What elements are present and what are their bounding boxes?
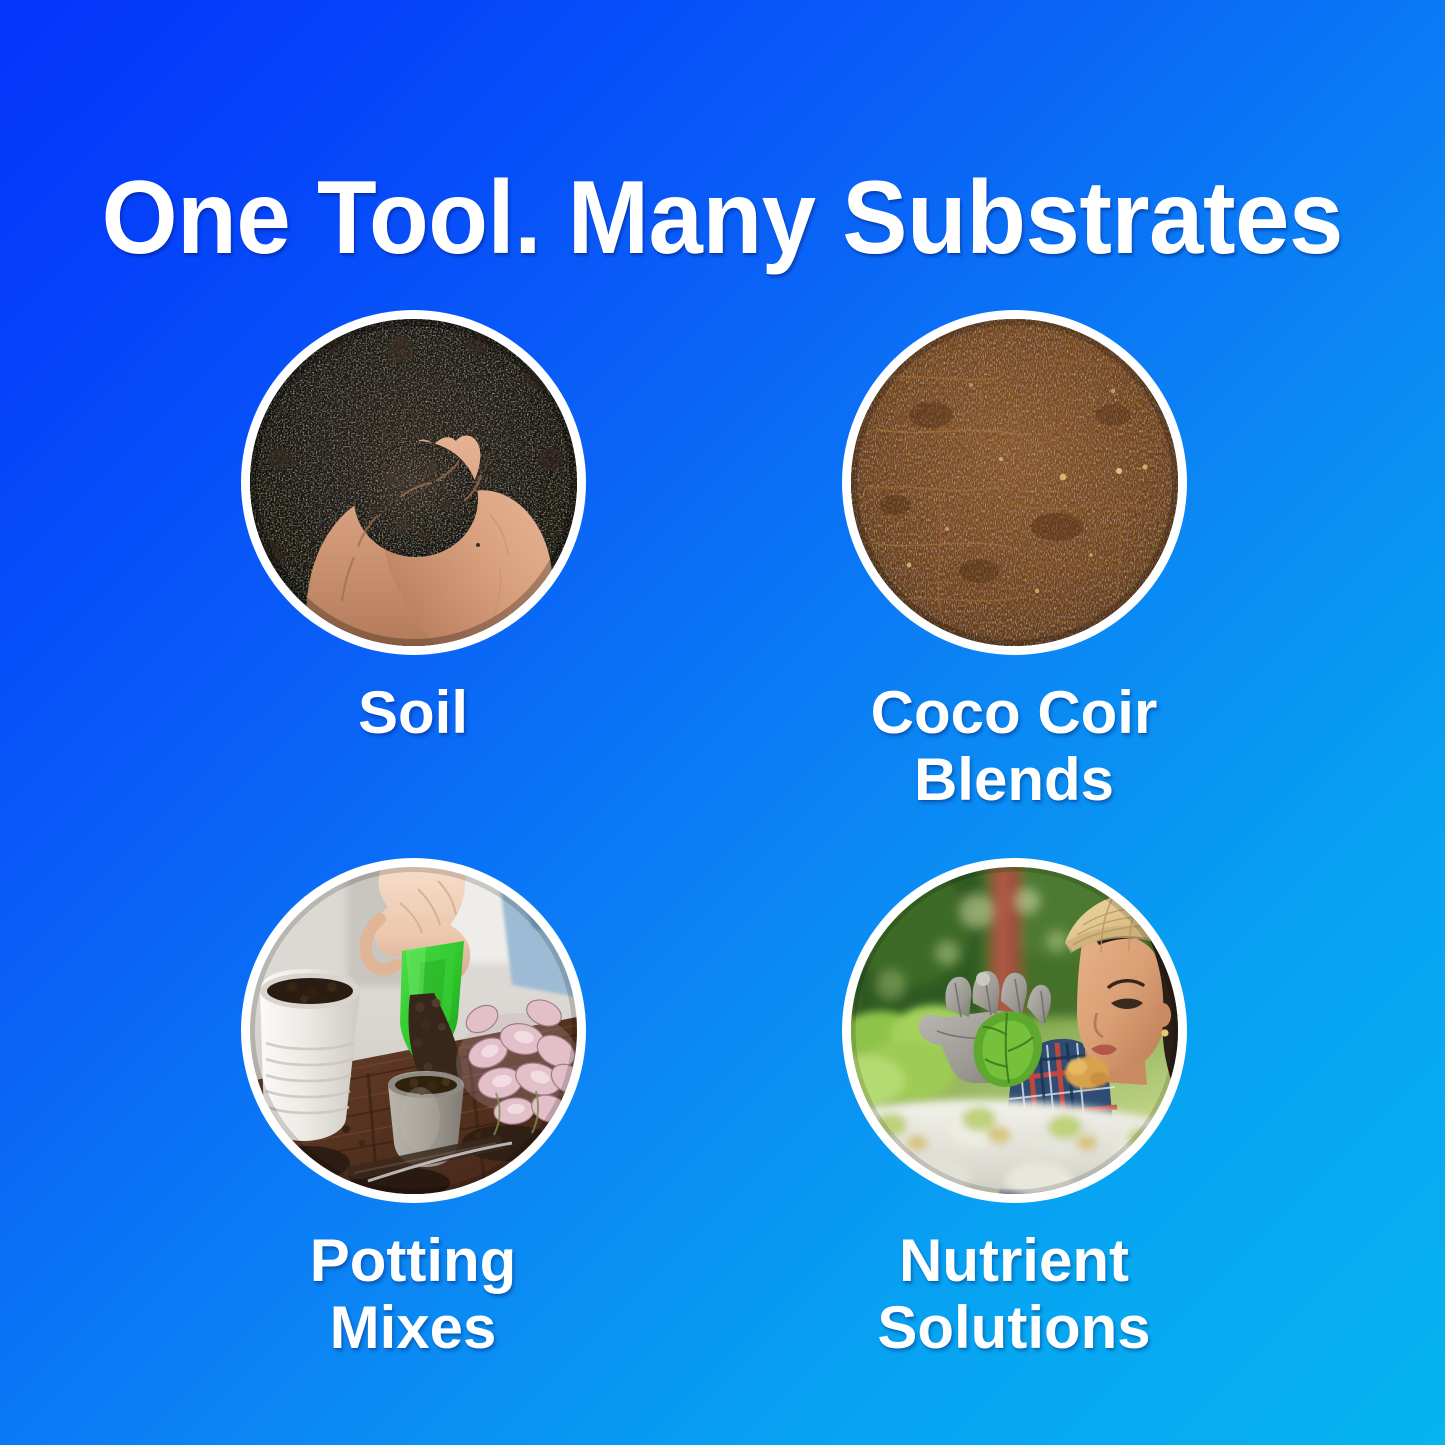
coco-coir-texture-photo xyxy=(851,319,1178,646)
potting-scene-photo xyxy=(250,867,577,1194)
substrate-label-coco-coir-blends: Coco Coir Blends xyxy=(714,679,1314,813)
label-line: Coco Coir xyxy=(714,679,1314,746)
label-line: Mixes xyxy=(113,1294,713,1361)
hydroponic-grower-photo xyxy=(851,867,1178,1194)
substrate-grid: Soil xyxy=(0,310,1445,1410)
hands-holding-dark-soil-photo xyxy=(250,319,577,646)
poster-canvas: One Tool. Many Substrates xyxy=(0,0,1445,1445)
substrate-item-soil[interactable]: Soil xyxy=(113,310,713,746)
substrate-label-soil: Soil xyxy=(113,679,713,746)
page-title: One Tool. Many Substrates xyxy=(102,166,1343,270)
substrate-item-nutrient-solutions[interactable]: Nutrient Solutions xyxy=(714,858,1314,1361)
substrate-item-potting-mixes[interactable]: Potting Mixes xyxy=(113,858,713,1361)
substrate-label-potting-mixes: Potting Mixes xyxy=(113,1227,713,1361)
headline-container: One Tool. Many Substrates xyxy=(0,96,1445,339)
photo-ring-nutrient-solutions xyxy=(842,858,1187,1203)
substrate-item-coco-coir-blends[interactable]: Coco Coir Blends xyxy=(714,310,1314,813)
label-line: Nutrient xyxy=(714,1227,1314,1294)
substrate-label-nutrient-solutions: Nutrient Solutions xyxy=(714,1227,1314,1361)
photo-ring-coco-coir xyxy=(842,310,1187,655)
photo-ring-potting-mixes xyxy=(241,858,586,1203)
photo-ring-soil xyxy=(241,310,586,655)
label-line: Soil xyxy=(113,679,713,746)
label-line: Potting xyxy=(113,1227,713,1294)
label-line: Blends xyxy=(714,746,1314,813)
label-line: Solutions xyxy=(714,1294,1314,1361)
